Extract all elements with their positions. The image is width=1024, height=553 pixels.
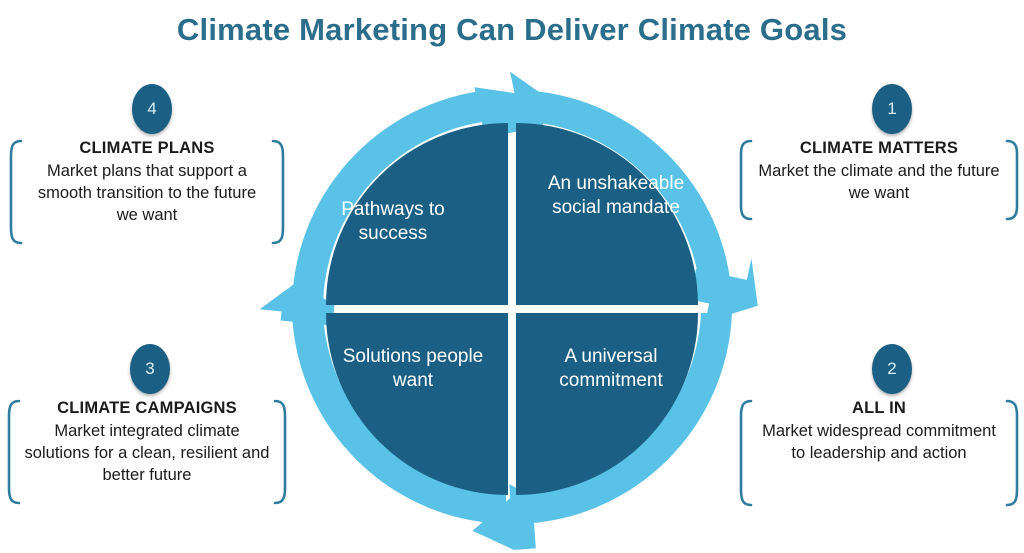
bracket-right-icon	[268, 138, 290, 246]
callout-climate-plans[interactable]: 4 CLIMATE PLANS Market plans that suppor…	[4, 138, 290, 246]
callout-text-4: Market plans that support a smooth trans…	[26, 161, 268, 227]
callout-climate-campaigns[interactable]: 3 CLIMATE CAMPAIGNS Market integrated cl…	[2, 398, 292, 506]
quadrant-bottom-right	[516, 313, 698, 495]
callout-badge-4: 4	[132, 84, 172, 134]
quadrant-top-left	[326, 123, 508, 305]
callout-body-4: CLIMATE PLANS Market plans that support …	[26, 138, 268, 227]
page-title: Climate Marketing Can Deliver Climate Go…	[0, 12, 1024, 48]
cycle-diagram	[266, 58, 758, 553]
quadrant-top-right	[516, 123, 698, 305]
callout-climate-matters[interactable]: 1 CLIMATE MATTERS Market the climate and…	[734, 138, 1024, 222]
callout-heading-2: ALL IN	[756, 398, 1002, 420]
bracket-left-icon	[734, 398, 756, 508]
callout-heading-4: CLIMATE PLANS	[26, 138, 268, 160]
bracket-left-icon	[2, 398, 24, 506]
callout-text-3: Market integrated climate solutions for …	[24, 421, 270, 487]
callout-badge-1: 1	[872, 84, 912, 134]
callout-all-in[interactable]: 2 ALL IN Market widespread commitment to…	[734, 398, 1024, 508]
diagram-canvas: Climate Marketing Can Deliver Climate Go…	[0, 0, 1024, 553]
bracket-right-icon	[270, 398, 292, 506]
bracket-right-icon	[1002, 398, 1024, 508]
callout-body-1: CLIMATE MATTERS Market the climate and t…	[756, 138, 1002, 205]
bracket-left-icon	[4, 138, 26, 246]
callout-text-1: Market the climate and the future we wan…	[756, 161, 1002, 205]
callout-heading-3: CLIMATE CAMPAIGNS	[24, 398, 270, 420]
quadrant-bottom-left	[326, 313, 508, 495]
callout-body-3: CLIMATE CAMPAIGNS Market integrated clim…	[24, 398, 270, 487]
callout-text-2: Market widespread commitment to leadersh…	[756, 421, 1002, 465]
callout-badge-2: 2	[872, 344, 912, 394]
callout-heading-1: CLIMATE MATTERS	[756, 138, 1002, 160]
bracket-left-icon	[734, 138, 756, 222]
callout-body-2: ALL IN Market widespread commitment to l…	[756, 398, 1002, 465]
callout-badge-3: 3	[130, 344, 170, 394]
bracket-right-icon	[1002, 138, 1024, 222]
